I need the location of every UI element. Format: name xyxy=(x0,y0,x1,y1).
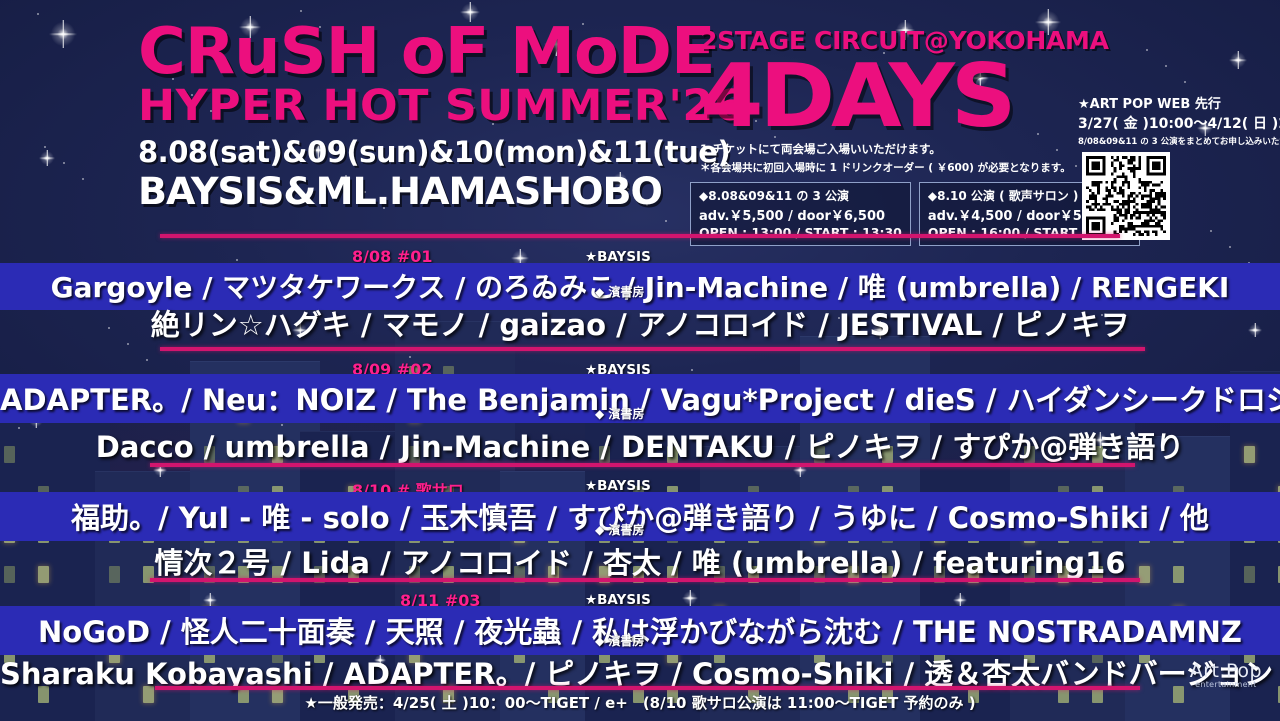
logo-tagline: entertainment xyxy=(1190,680,1262,689)
ticket-note-2: ＊各会場共に初回入場時に 1 ドリンクオーダー ( ￥600) が必要となります… xyxy=(700,160,1030,175)
presale-note: 8/08&09&11 の 3 公演をまとめてお申し込みいただけます。 xyxy=(1078,135,1278,147)
day-divider xyxy=(150,463,1135,467)
art-pop-logo: Art Pop entertainment xyxy=(1190,660,1262,689)
day-divider xyxy=(160,347,1145,351)
day-divider xyxy=(155,686,1140,690)
presale-period: 3/27( 金 )10:00〜4/12( 日 )23:59 xyxy=(1078,113,1278,133)
festival-title: CRuSH oF MoDE xyxy=(138,22,668,83)
festival-subtitle: HYPER HOT SUMMER'26 xyxy=(138,85,674,129)
stage-label-hamashobo: ◆ 濱書房 xyxy=(595,283,644,300)
festival-dates: 8.08(sat)&09(sun)&10(mon)&11(tue) xyxy=(138,135,658,169)
circuit-info-block: 2STAGE CIRCUIT@YOKOHAMA 4DAYS 1 チケットにて両会… xyxy=(700,26,1030,175)
price-box-main-title: ◆8.08&09&11 の 3 公演 xyxy=(699,187,902,204)
festival-title-block: CRuSH oF MoDE HYPER HOT SUMMER'26 8.08(s… xyxy=(138,22,658,213)
lineup-hamashobo: 情次２号 / Lida / アノコロイド / 杏太 / 唯 (umbrella)… xyxy=(0,540,1280,582)
stage-label-hamashobo: ◆ 濱書房 xyxy=(595,521,644,538)
presale-block: ★ART POP WEB 先行 3/27( 金 )10:00〜4/12( 日 )… xyxy=(1078,93,1278,240)
stage-label-hamashobo: ◆ 濱書房 xyxy=(595,632,644,649)
general-sale-note: ★一般発売：4/25( 土 )10：00〜TIGET / e+ (8/10 歌サ… xyxy=(0,692,1280,713)
lineup-hamashobo: 絶リン☆ハグキ / マモノ / gaizao / アノコロイド / JESTIV… xyxy=(0,302,1280,344)
lineup-hamashobo: Dacco / umbrella / Jin-Machine / DENTAKU… xyxy=(0,424,1280,466)
logo-name: Art Pop xyxy=(1190,660,1262,682)
day-divider xyxy=(160,234,1120,238)
price-box-main-fee: adv.￥5,500 / door￥6,500 xyxy=(699,205,902,224)
days-count: 4DAYS xyxy=(700,57,1047,135)
presale-title: ★ART POP WEB 先行 xyxy=(1078,93,1278,112)
qr-code-icon[interactable] xyxy=(1082,152,1170,240)
stage-label-hamashobo: ◆ 濱書房 xyxy=(595,405,644,422)
festival-venues: BAYSIS&ML.HAMASHOBO xyxy=(138,170,674,213)
day-divider xyxy=(150,578,1140,582)
